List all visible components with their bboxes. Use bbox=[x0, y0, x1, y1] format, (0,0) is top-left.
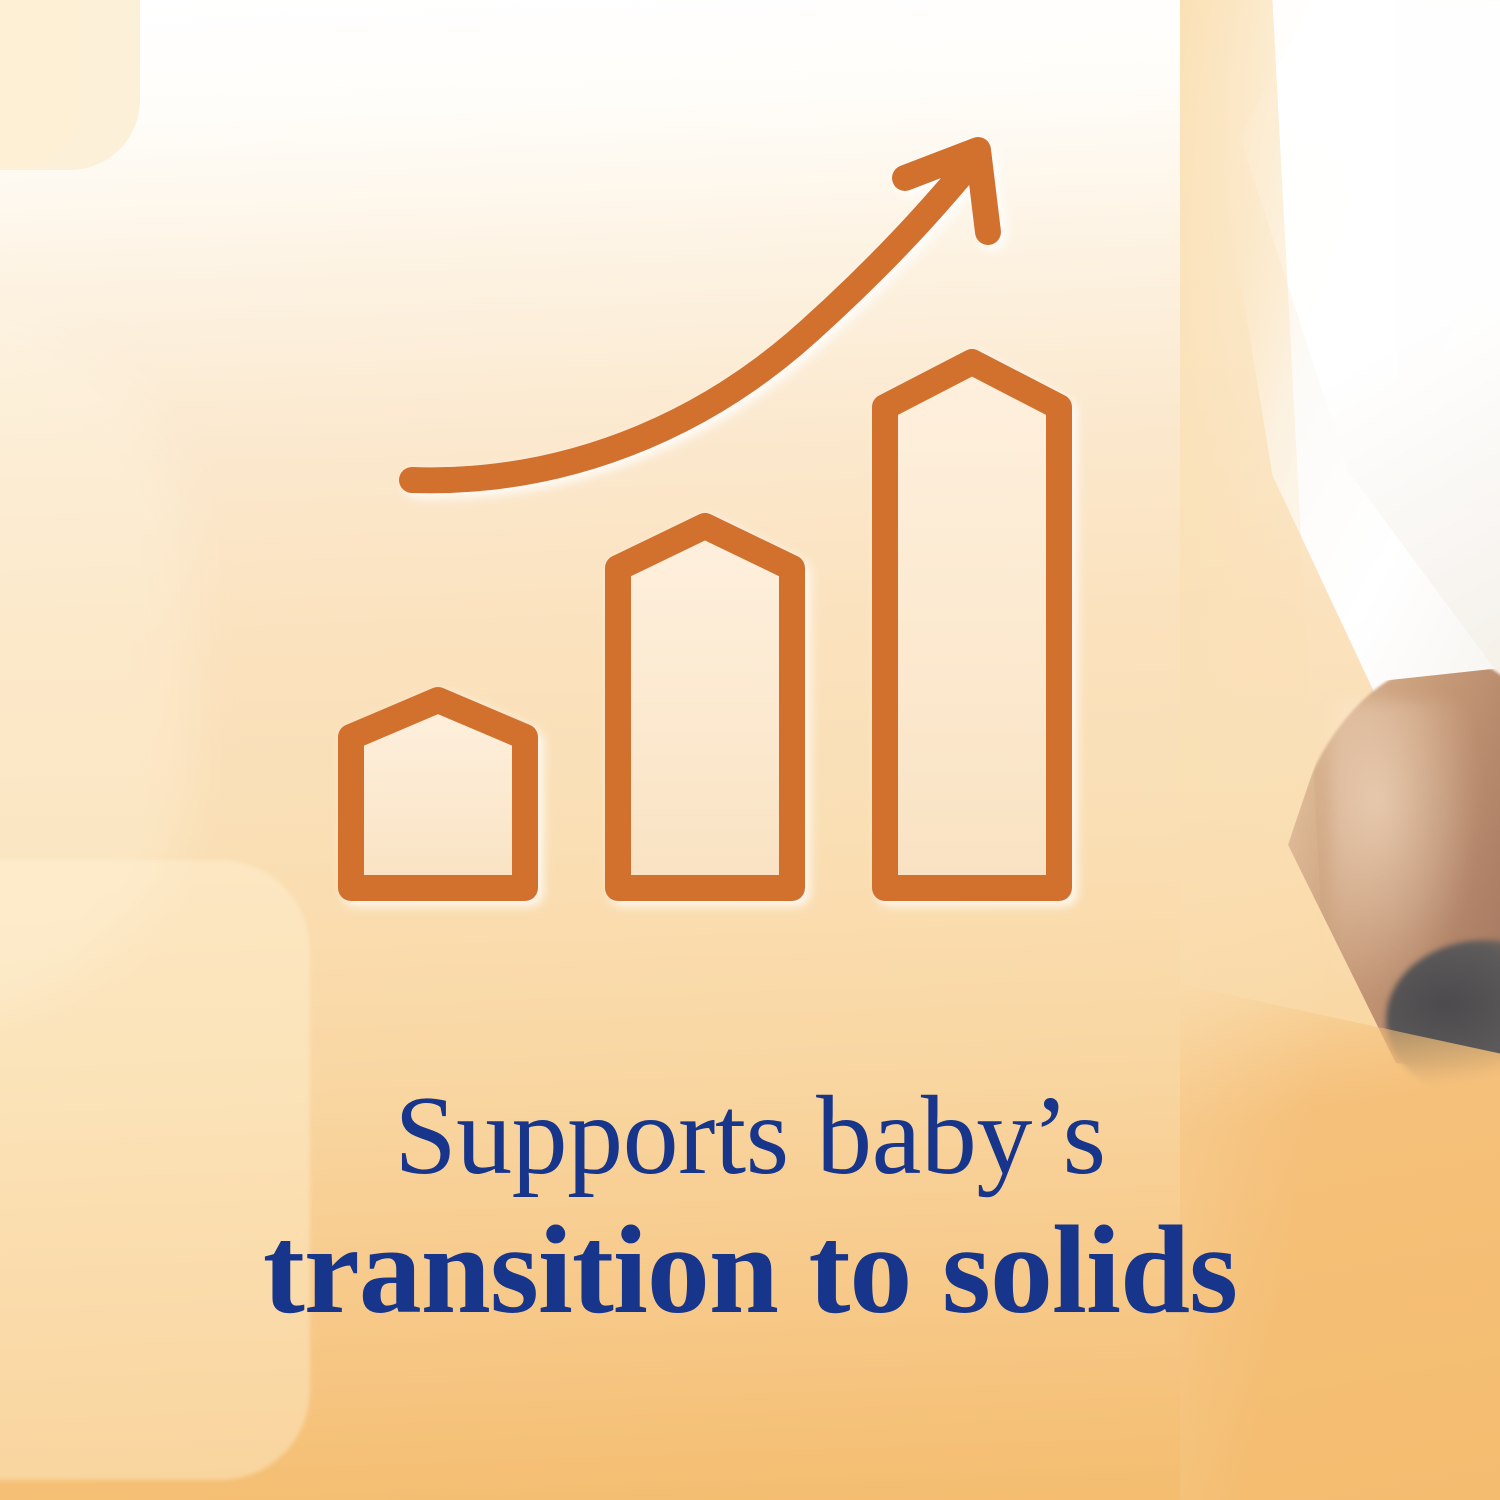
chart-bar-medium bbox=[618, 526, 792, 888]
chart-bar-small bbox=[351, 700, 525, 888]
promo-image-canvas: Supports baby’s transition to solids bbox=[0, 0, 1500, 1500]
chart-svg bbox=[0, 0, 1500, 1030]
growth-bar-chart-illustration bbox=[0, 0, 1500, 1030]
headline: Supports baby’s transition to solids bbox=[0, 1080, 1500, 1334]
headline-line-one: Supports baby’s bbox=[0, 1080, 1500, 1192]
chart-bar-large bbox=[885, 362, 1059, 888]
headline-line-two: transition to solids bbox=[0, 1208, 1500, 1334]
